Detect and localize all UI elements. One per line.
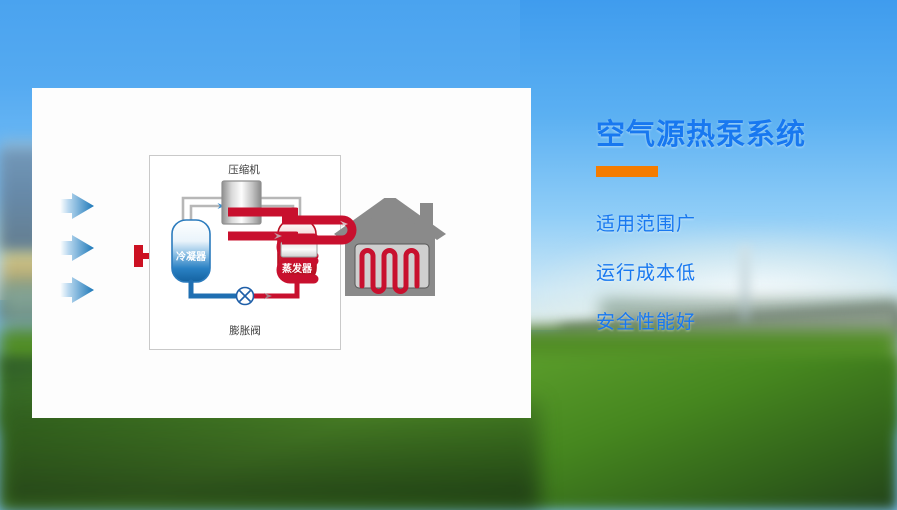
slide-canvas: 压缩机 冷凝器 蒸发器 膨胀阀 空气源 (0, 0, 897, 510)
air-flow-arrow-icon (60, 277, 94, 303)
evaporator-link-pipes (228, 206, 298, 270)
feature-item-3: 安全性能好 (596, 307, 886, 334)
feature-item-2: 运行成本低 (596, 258, 886, 285)
text-panel: 空气源热泵系统 适用范围广 运行成本低 安全性能好 (596, 120, 886, 334)
diagram-card: 压缩机 冷凝器 蒸发器 膨胀阀 (32, 88, 531, 418)
house-heating-group (282, 198, 497, 313)
label-compressor: 压缩机 (228, 163, 260, 176)
feature-item-1: 适用范围广 (596, 209, 886, 236)
air-flow-arrow-icon (60, 193, 94, 219)
page-title: 空气源热泵系统 (596, 120, 886, 152)
label-condenser: 冷凝器 (176, 250, 207, 263)
chimney-icon (420, 203, 433, 229)
label-expansion-valve: 膨胀阀 (229, 324, 261, 337)
air-flow-arrow-icon (60, 235, 94, 261)
accent-rule (596, 166, 658, 177)
